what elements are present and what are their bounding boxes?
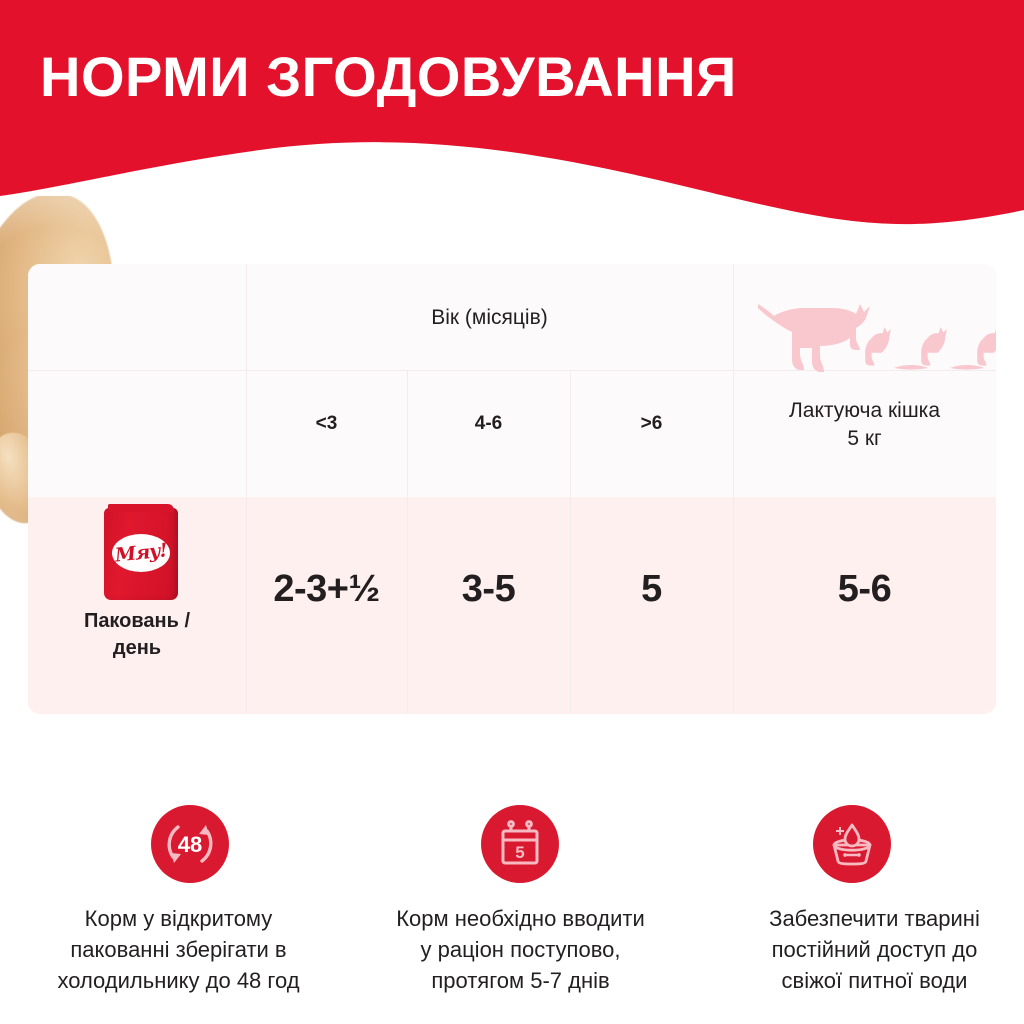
column-header-lactating-cat: Лактуюча кішка 5 кг — [733, 382, 996, 468]
food-pouch-icon: Мяу! — [104, 508, 178, 600]
brand-logo-oval: Мяу! — [112, 534, 170, 572]
row-label-line2: день — [113, 637, 161, 659]
value-under-3-fraction: ½ — [348, 568, 379, 611]
feature-storage: 48 Корм у відкритому пакованні зберігати… — [20, 790, 361, 1024]
feature-list: 48 Корм у відкритому пакованні зберігати… — [0, 790, 1024, 1024]
value-lactating: 5-6 — [733, 559, 996, 619]
lactating-label-line2: 5 кг — [847, 425, 881, 453]
water-bowl-icon — [813, 805, 891, 883]
cats-silhouette-icon — [746, 290, 996, 378]
feature-introduction-text: Корм необхідно вводити у раціон поступов… — [324, 904, 717, 996]
feature-introduction: 5 Корм необхідно вводити у раціон поступ… — [350, 790, 691, 1024]
column-header-under-3: <3 — [246, 394, 407, 454]
feeding-table: Вік (місяців) <3 4-6 >6 Лактуюча кішка 5 — [28, 264, 996, 714]
value-over-6: 5 — [570, 559, 733, 619]
page-title: НОРМИ ЗГОДОВУВАННЯ — [40, 44, 737, 109]
feature-storage-text: Корм у відкритому пакованні зберігати в … — [0, 904, 375, 996]
refresh-48-hours-icon: 48 — [151, 805, 229, 883]
lactating-label-line1: Лактуюча кішка — [789, 397, 940, 425]
value-under-3: 2-3+½ — [246, 559, 407, 619]
value-4-6: 3-5 — [407, 559, 570, 619]
row-label-cell: Мяу! Паковань / день — [28, 500, 246, 714]
column-header-over-6: >6 — [570, 394, 733, 454]
column-header-4-6: 4-6 — [407, 394, 570, 454]
value-under-3-number: 2-3+ — [273, 568, 348, 611]
badge-5: 5 — [515, 843, 524, 862]
brand-name: Мяу! — [114, 539, 168, 566]
row-label-line1: Паковань / — [84, 610, 190, 632]
calendar-5-icon: 5 — [481, 805, 559, 883]
infographic-root: НОРМИ ЗГОДОВУВАННЯ Вік (місяців) — [0, 0, 1024, 1024]
badge-48: 48 — [178, 832, 202, 857]
row-label: Паковань / день — [28, 608, 246, 662]
feature-water-text: Забезпечити тварині постійний доступ до … — [678, 904, 1024, 996]
table-divider-vertical — [733, 264, 734, 714]
feature-water: Забезпечити тварині постійний доступ до … — [682, 790, 1023, 1024]
age-group-header: Вік (місяців) — [246, 288, 733, 348]
